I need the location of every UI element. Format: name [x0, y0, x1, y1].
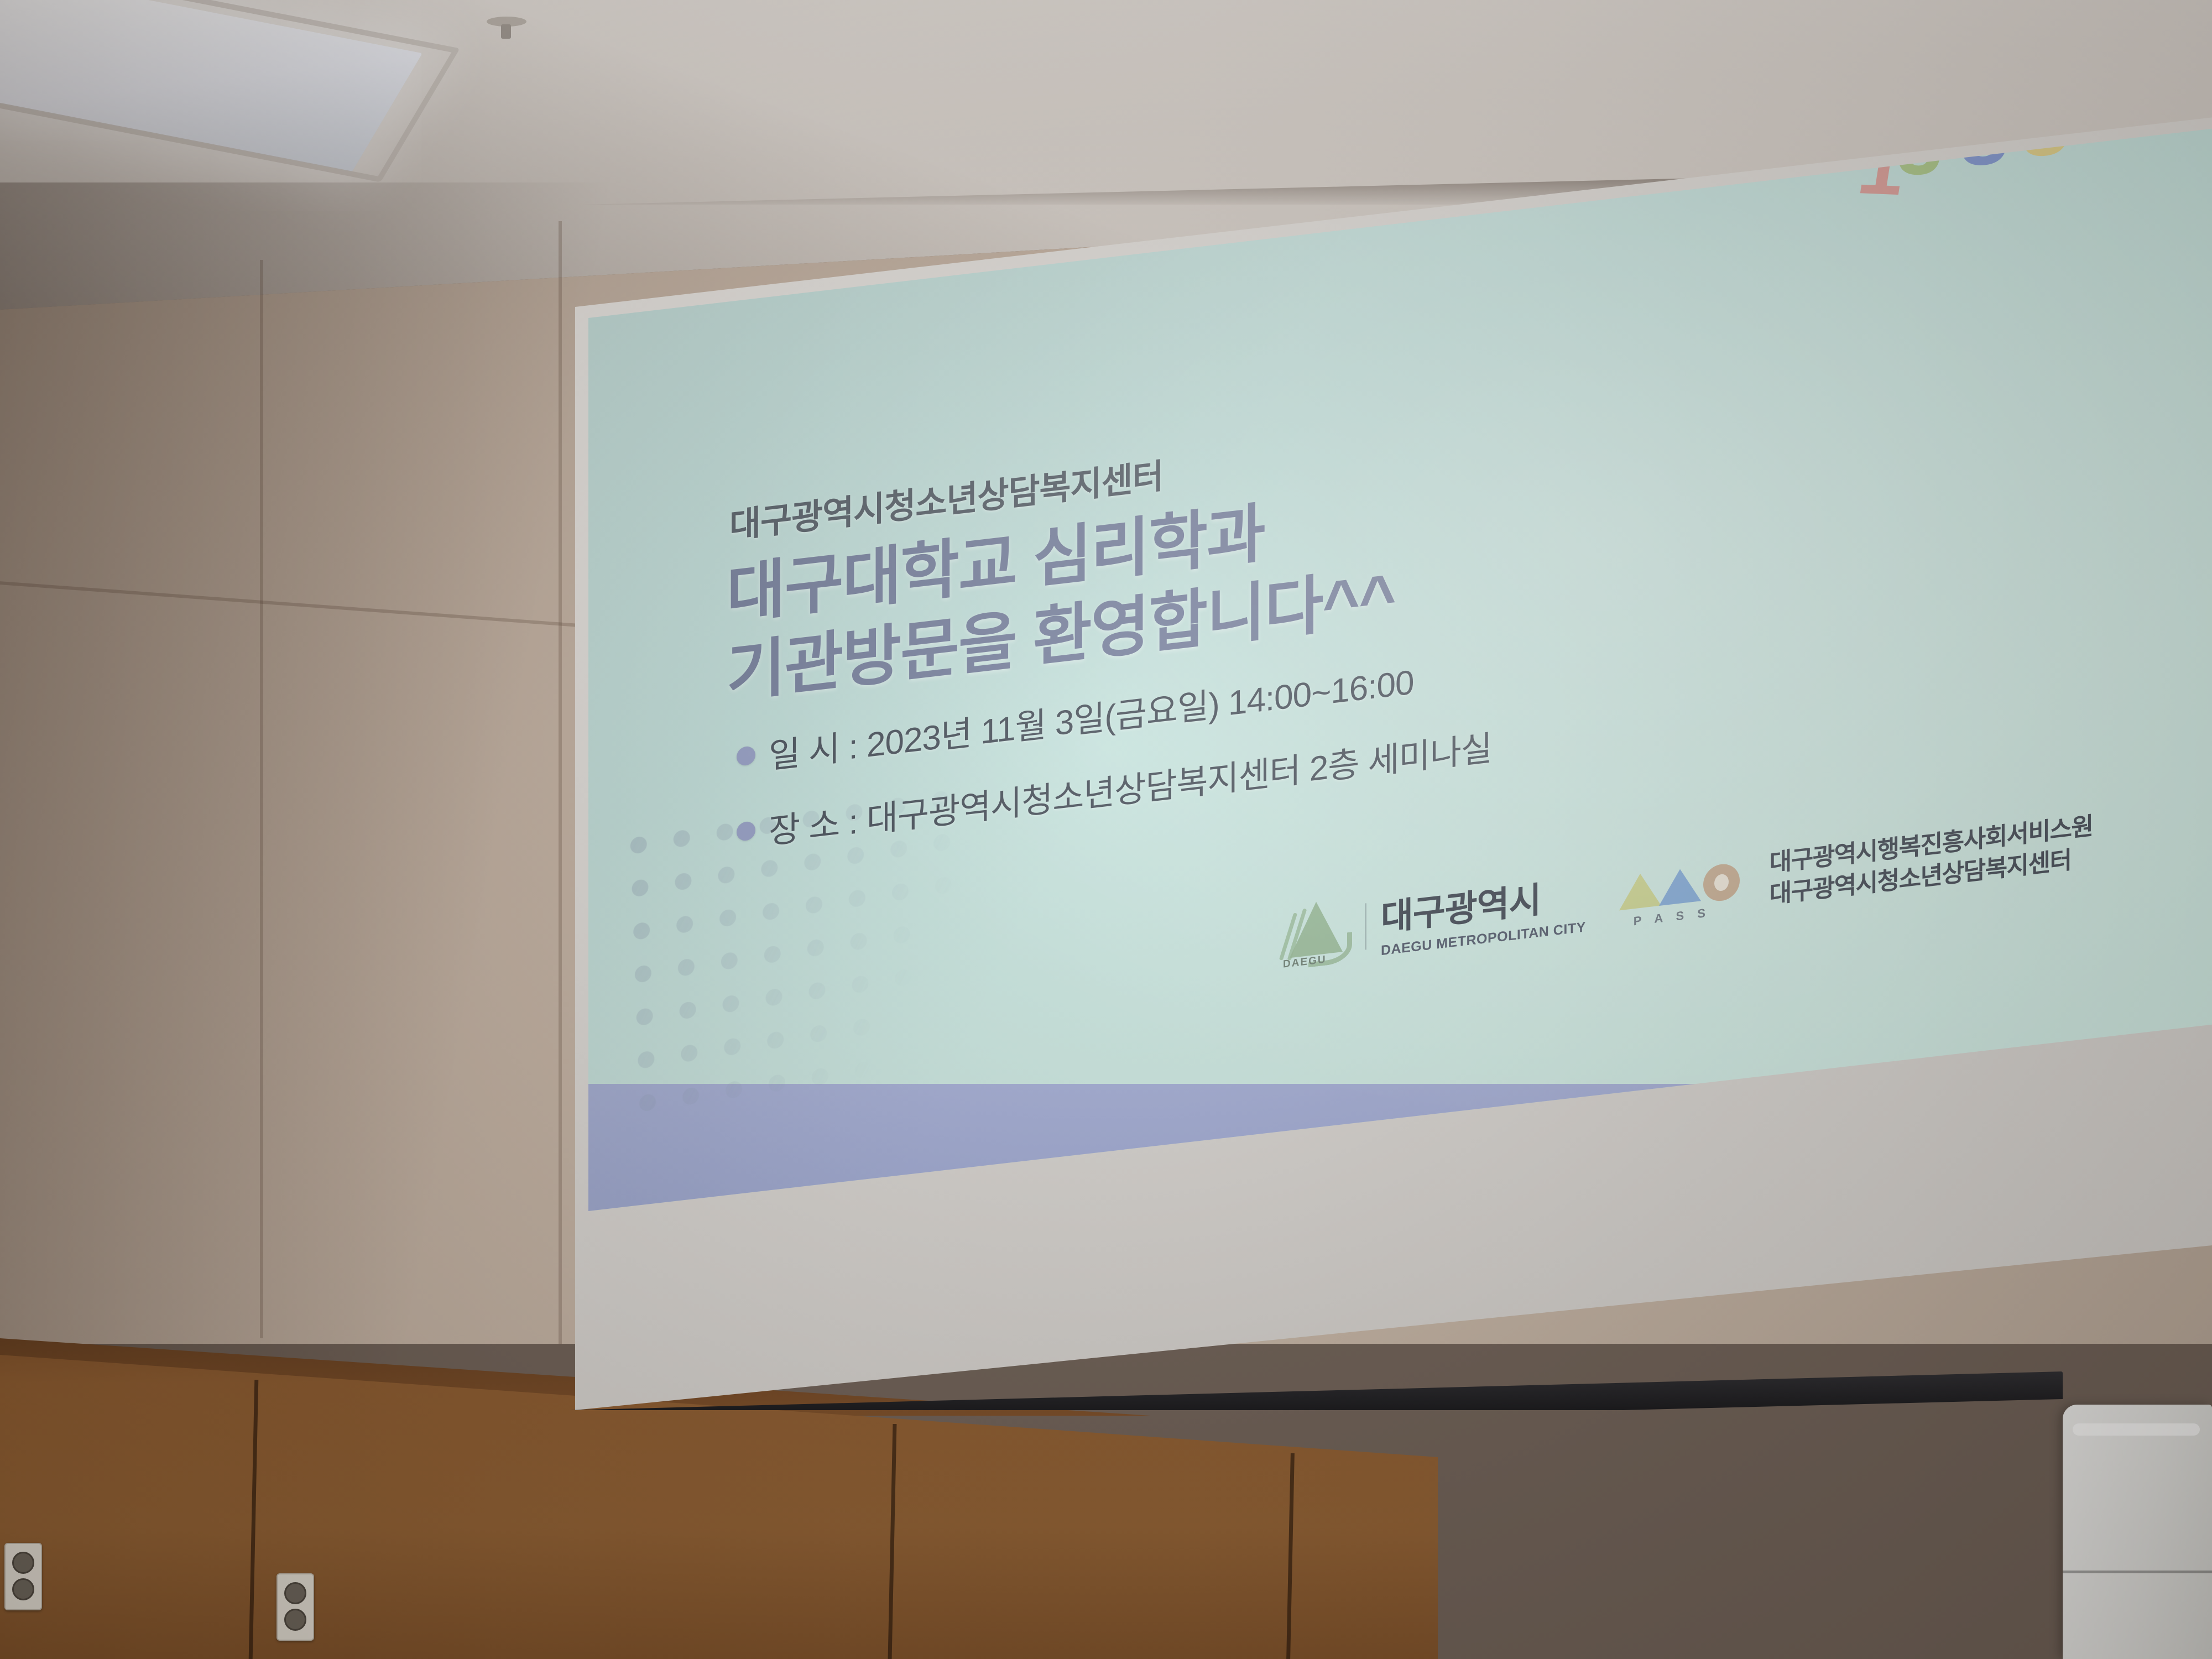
pass-chevron-green-icon: [1619, 871, 1661, 910]
wall-shadow-left: [0, 182, 664, 1399]
projected-slide: 청소년상담전화 1 3 8 8 대구광역시청소년상담복지센터 대구대학교 심리학…: [588, 127, 2212, 1211]
slide-footer-logos: DAEGU 대구광역시 DAEGU METROPOLITAN CITY: [1280, 807, 2093, 971]
logo-divider: [1365, 903, 1366, 950]
appliance-seam: [2063, 1571, 2212, 1573]
power-outlet-2: [276, 1573, 314, 1641]
bullet-dot-icon: [737, 745, 755, 766]
daegu-wordmark: 대구광역시 DAEGU METROPOLITAN CITY: [1381, 866, 1586, 959]
pass-circle-icon: [1703, 862, 1740, 903]
sprinkler-icon: [487, 17, 526, 39]
logo-daegu-metropolitan-city: DAEGU 대구광역시 DAEGU METROPOLITAN CITY: [1280, 866, 1586, 971]
pass-mark-icon: P A S S: [1619, 848, 1757, 930]
pass-chevron-blue-icon: [1659, 867, 1701, 906]
scene-photo: 청소년상담전화 1 3 8 8 대구광역시청소년상담복지센터 대구대학교 심리학…: [0, 0, 2212, 1659]
slide-content: 청소년상담전화 1 3 8 8 대구광역시청소년상담복지센터 대구대학교 심리학…: [588, 0, 2212, 1211]
pass-mark-label: P A S S: [1634, 905, 1710, 928]
power-outlet-1: [4, 1543, 42, 1610]
daegu-mountain-emblem-icon: DAEGU: [1280, 895, 1350, 969]
bullet-dot-icon: [737, 821, 755, 842]
projector-screen: 청소년상담전화 1 3 8 8 대구광역시청소년상담복지센터 대구대학교 심리학…: [575, 116, 2212, 1471]
pass-wordmark: 대구광역시행복진흥사회서비스원 대구광역시청소년상담복지센터: [1770, 811, 2093, 910]
logo-pass: P A S S 대구광역시행복진흥사회서비스원 대구광역시청소년상담복지센터: [1619, 809, 2093, 930]
